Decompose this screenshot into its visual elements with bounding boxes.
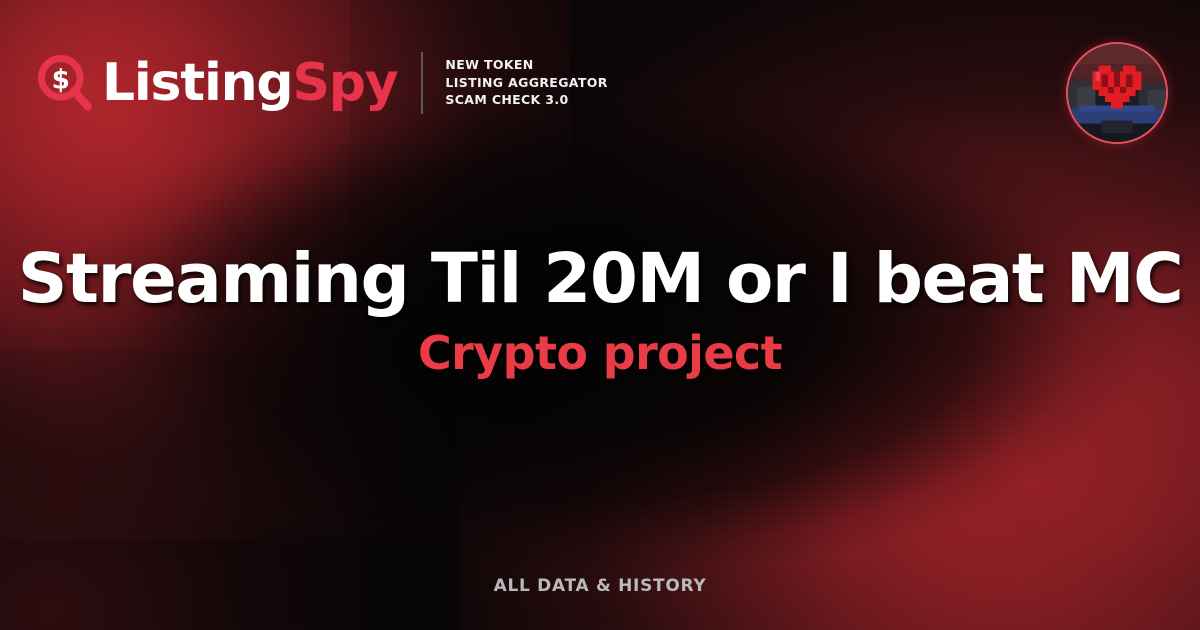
tagline-line-1: NEW TOKEN: [445, 58, 607, 73]
header: $ ListingSpy NEW TOKEN LISTING AGGREGATO…: [38, 52, 608, 114]
brand-wordmark: ListingSpy: [102, 57, 397, 109]
tagline-line-3: SCAM CHECK 3.0: [445, 93, 607, 108]
footer: ALL DATA & HISTORY: [0, 576, 1200, 596]
brand-tagline: NEW TOKEN LISTING AGGREGATOR SCAM CHECK …: [445, 58, 607, 108]
svg-text:$: $: [52, 65, 70, 95]
page-title: Streaming Til 20M or I beat MC: [14, 243, 1186, 316]
project-avatar[interactable]: [1066, 42, 1168, 144]
brand-wordmark-part-one: Listing: [102, 53, 292, 113]
header-divider: [421, 52, 423, 114]
tagline-line-2: LISTING AGGREGATOR: [445, 76, 607, 91]
banner-card: $ ListingSpy NEW TOKEN LISTING AGGREGATO…: [0, 0, 1200, 630]
magnifier-dollar-icon: $: [38, 55, 102, 111]
avatar: [1068, 44, 1166, 142]
footer-text: ALL DATA & HISTORY: [494, 576, 707, 596]
pixel-heart-avatar-icon: [1068, 44, 1166, 142]
brand-wordmark-part-two: Spy: [292, 53, 397, 113]
brand-logo[interactable]: $ ListingSpy: [38, 55, 397, 111]
page-subtitle: Crypto project: [14, 328, 1186, 379]
headline-block: Streaming Til 20M or I beat MC Crypto pr…: [0, 243, 1200, 379]
